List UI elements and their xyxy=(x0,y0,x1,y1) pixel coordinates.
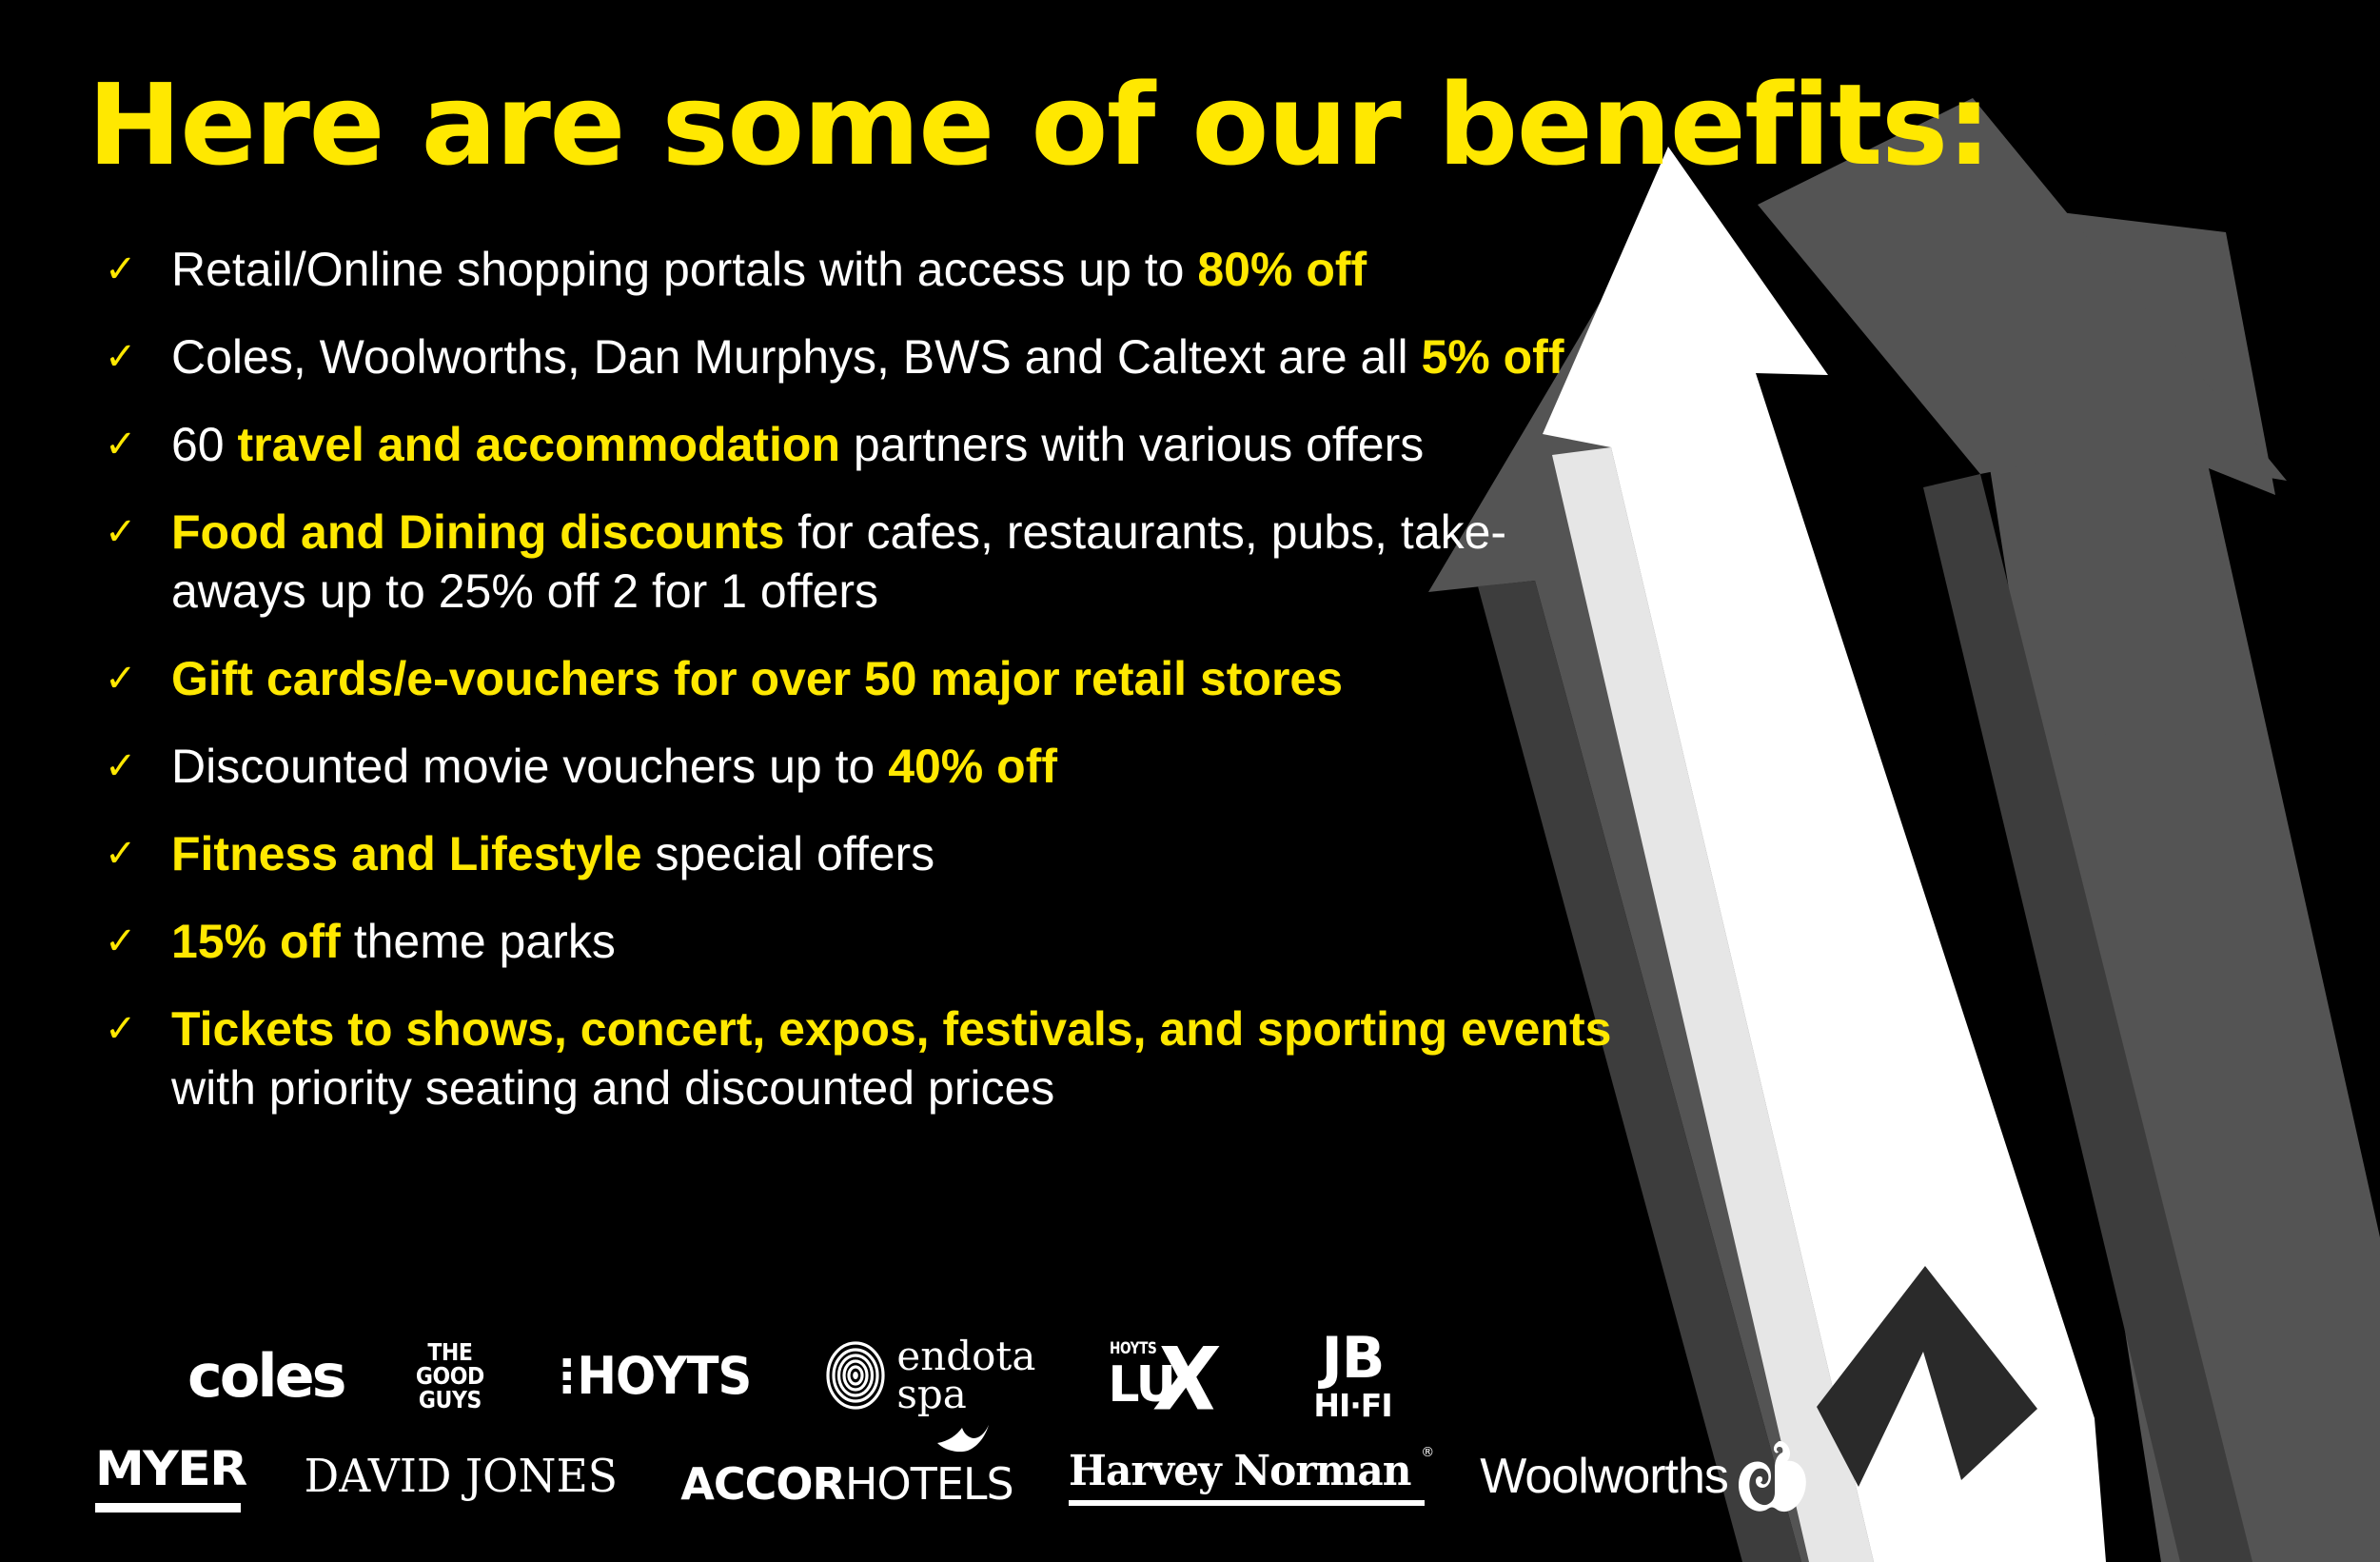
logo-woolworths: Woolworths xyxy=(1480,1439,1808,1513)
benefit-segment: 5% off xyxy=(1421,330,1564,384)
benefit-item-supermarket-fuel: ✓Coles, Woolworths, Dan Murphys, BWS and… xyxy=(88,327,1629,386)
benefit-item-label: Coles, Woolworths, Dan Murphys, BWS and … xyxy=(171,327,1629,386)
logo-hoyts: HOYTS xyxy=(563,1346,752,1406)
logo-myer: MYER xyxy=(95,1441,241,1513)
logo-hoyts-text: HOYTS xyxy=(578,1346,752,1406)
logo-myer-underline xyxy=(95,1503,241,1513)
logo-the-good-guys-line1: THE xyxy=(427,1340,472,1364)
logo-accor-hotels: ACCORHOTELS xyxy=(680,1443,1013,1510)
logo-woolworths-text: Woolworths xyxy=(1480,1448,1728,1505)
checkmark-icon: ✓ xyxy=(88,503,171,562)
logo-jb-hi-fi-line1: JB xyxy=(1321,1330,1384,1387)
checkmark-icon: ✓ xyxy=(88,240,171,299)
logo-the-good-guys-line3: GUYS xyxy=(418,1388,481,1412)
logo-endota-spa-words: endota spa xyxy=(896,1337,1035,1414)
benefits-list: ✓Retail/Online shopping portals with acc… xyxy=(88,240,1629,1146)
logo-the-good-guys: THE GOOD GUYS xyxy=(415,1340,483,1412)
checkmark-icon: ✓ xyxy=(88,999,171,1058)
benefit-segment: with priority seating and discounted pri… xyxy=(171,1061,1054,1115)
partner-logos-row-2: MYER DAVID JONES ACCORHOTELS Harvey Norm… xyxy=(88,1433,1439,1520)
logo-harvey-norman-registered-mark: ® xyxy=(1421,1445,1434,1460)
benefit-segment: partners with various offers xyxy=(840,418,1424,471)
benefit-item-label: Gift cards/e-vouchers for over 50 major … xyxy=(171,649,1629,708)
checkmark-icon: ✓ xyxy=(88,649,171,708)
checkmark-icon: ✓ xyxy=(88,912,171,971)
benefit-item-retail-online-shopping: ✓Retail/Online shopping portals with acc… xyxy=(88,240,1629,299)
benefit-segment: 80% off xyxy=(1197,243,1367,296)
logo-harvey-norman-underline xyxy=(1069,1500,1426,1506)
benefit-item-label: Retail/Online shopping portals with acce… xyxy=(171,240,1629,299)
benefit-segment: travel and accommodation xyxy=(238,418,841,471)
checkmark-icon: ✓ xyxy=(88,327,171,386)
benefit-item-food-dining: ✓Food and Dining discounts for cafes, re… xyxy=(88,503,1629,621)
checkmark-icon: ✓ xyxy=(88,824,171,883)
benefit-item-label: 60 travel and accommodation partners wit… xyxy=(171,415,1629,474)
partner-logos: coles THE GOOD GUYS HOYTS xyxy=(88,1328,1439,1520)
logo-endota-line2: spa xyxy=(896,1375,1035,1414)
logo-harvey-norman-text: Harvey Norman xyxy=(1069,1447,1411,1495)
benefit-segment: special offers xyxy=(642,827,935,880)
logo-endota-spa: endota spa xyxy=(826,1337,1035,1414)
logo-the-good-guys-line2: GOOD xyxy=(415,1364,483,1388)
hoyts-filmstrip-icon xyxy=(563,1358,571,1394)
woolworths-apple-icon xyxy=(1738,1439,1808,1513)
partner-logos-row-1: coles THE GOOD GUYS HOYTS xyxy=(88,1328,1439,1423)
benefit-segment: 40% off xyxy=(888,740,1057,793)
benefit-segment: Discounted movie vouchers up to xyxy=(171,740,888,793)
benefit-item-label: 15% off theme parks xyxy=(171,912,1629,971)
benefits-slide: Here are some of our benefits: ✓Retail/O… xyxy=(0,0,2380,1562)
benefit-segment: 15% off xyxy=(171,915,341,968)
benefit-item-tickets-events: ✓Tickets to shows, concert, expos, festi… xyxy=(88,999,1629,1117)
arrow-base-bevel xyxy=(1817,1266,2037,1487)
benefit-item-fitness-lifestyle: ✓Fitness and Lifestyle special offers xyxy=(88,824,1629,883)
logo-hoyts-lux-small: HOYTS xyxy=(1110,1339,1156,1358)
logo-accor-bold: ACCOR xyxy=(680,1458,845,1510)
endota-spiral-icon xyxy=(826,1341,885,1410)
benefit-segment: Gift cards/e-vouchers for over 50 major … xyxy=(171,652,1343,705)
benefit-segment: Tickets to shows, concert, expos, festiv… xyxy=(171,1002,1611,1056)
arrow-back-right-icon xyxy=(1758,98,2380,1562)
benefit-item-gift-cards-evouchers: ✓Gift cards/e-vouchers for over 50 major… xyxy=(88,649,1629,708)
benefit-item-label: Discounted movie vouchers up to 40% off xyxy=(171,737,1629,796)
logo-accor-light: HOTELS xyxy=(845,1458,1013,1510)
benefit-segment: Retail/Online shopping portals with acce… xyxy=(171,243,1197,296)
logo-coles: coles xyxy=(187,1341,344,1411)
checkmark-icon: ✓ xyxy=(88,415,171,474)
logo-hoyts-lux-x: X xyxy=(1151,1336,1224,1423)
benefit-item-movie-vouchers: ✓Discounted movie vouchers up to 40% off xyxy=(88,737,1629,796)
logo-harvey-norman: Harvey Norman ® xyxy=(1069,1447,1426,1506)
accor-bird-icon xyxy=(935,1422,991,1454)
logo-david-jones: DAVID JONES xyxy=(304,1450,617,1503)
logo-coles-text: coles xyxy=(187,1341,344,1411)
logo-myer-text: MYER xyxy=(95,1441,246,1496)
logo-hoyts-lux: HOYTS LU X xyxy=(1102,1332,1247,1419)
benefit-item-label: Tickets to shows, concert, expos, festiv… xyxy=(171,999,1629,1117)
logo-jb-hi-fi-line2: HI·FI xyxy=(1313,1390,1391,1421)
benefit-segment: Coles, Woolworths, Dan Murphys, BWS and … xyxy=(171,330,1421,384)
benefit-segment: theme parks xyxy=(341,915,616,968)
benefit-item-label: Fitness and Lifestyle special offers xyxy=(171,824,1629,883)
benefit-segment: Food and Dining discounts xyxy=(171,505,784,559)
page-title: Here are some of our benefits: xyxy=(88,69,1990,181)
logo-jb-hi-fi: JB HI·FI xyxy=(1313,1330,1391,1421)
checkmark-icon: ✓ xyxy=(88,737,171,796)
logo-endota-line1: endota xyxy=(896,1337,1035,1375)
benefit-item-theme-parks: ✓15% off theme parks xyxy=(88,912,1629,971)
benefit-segment: Fitness and Lifestyle xyxy=(171,827,642,880)
benefit-item-label: Food and Dining discounts for cafes, res… xyxy=(171,503,1629,621)
logo-david-jones-text: DAVID JONES xyxy=(304,1450,617,1503)
benefit-item-travel-accommodation: ✓60 travel and accommodation partners wi… xyxy=(88,415,1629,474)
benefit-segment: 60 xyxy=(171,418,238,471)
